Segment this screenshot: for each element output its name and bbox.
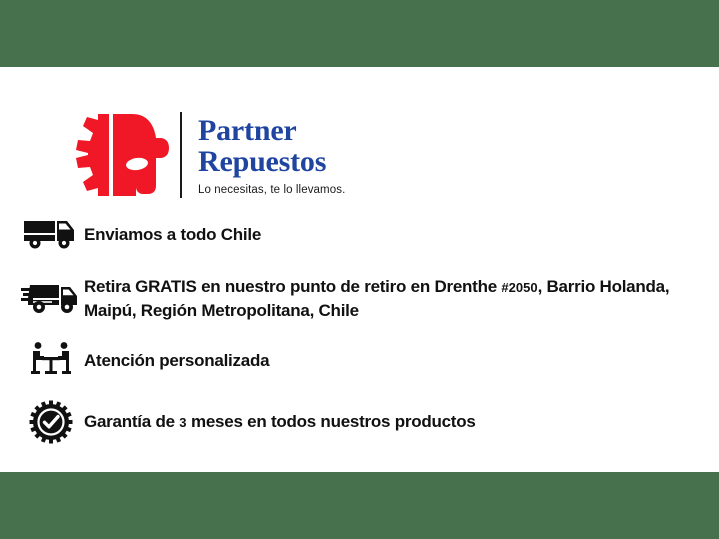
brand-name-line-1: Partner xyxy=(198,115,345,146)
brand-tagline: Lo necesitas, te lo llevamos. xyxy=(198,184,345,196)
fast-delivery-truck-icon-wrap xyxy=(18,281,84,315)
promo-banner: Partner Repuestos Lo necesitas, te lo ll… xyxy=(0,0,719,539)
gear-car-logo-icon xyxy=(57,112,170,198)
feature-text-shipping: Enviamos a todo Chile xyxy=(84,223,261,246)
personal-attention-meeting-icon xyxy=(29,341,73,379)
feature-text-attention: Atención personalizada xyxy=(84,349,269,372)
brand-logo-block: Partner Repuestos Lo necesitas, te lo ll… xyxy=(57,95,517,215)
warranty-badge-check-icon xyxy=(29,400,73,444)
feature-item-attention: Atención personalizada xyxy=(0,336,719,384)
warranty-months-number: 3 xyxy=(179,415,186,430)
logo-divider xyxy=(180,112,182,198)
brand-text: Partner Repuestos Lo necesitas, te lo ll… xyxy=(198,115,345,196)
feature-text-pickup: Retira GRATIS en nuestro punto de retiro… xyxy=(84,275,719,322)
brand-name-line-2: Repuestos xyxy=(198,146,345,177)
delivery-truck-icon-wrap xyxy=(18,218,84,250)
feature-text-warranty: Garantía de 3 meses en todos nuestros pr… xyxy=(84,410,476,434)
pickup-street-number: #2050 xyxy=(501,280,537,295)
feature-item-warranty: Garantía de 3 meses en todos nuestros pr… xyxy=(0,398,719,446)
personal-attention-meeting-icon-wrap xyxy=(18,341,84,379)
feature-item-shipping: Enviamos a todo Chile xyxy=(0,210,719,258)
fast-delivery-truck-icon xyxy=(21,281,81,315)
feature-item-pickup: Retira GRATIS en nuestro punto de retiro… xyxy=(0,274,719,322)
delivery-truck-icon xyxy=(23,218,79,250)
white-content-card: Partner Repuestos Lo necesitas, te lo ll… xyxy=(0,67,719,472)
feature-list: Enviamos a todo Chile xyxy=(0,210,719,446)
warranty-badge-check-icon-wrap xyxy=(18,400,84,444)
